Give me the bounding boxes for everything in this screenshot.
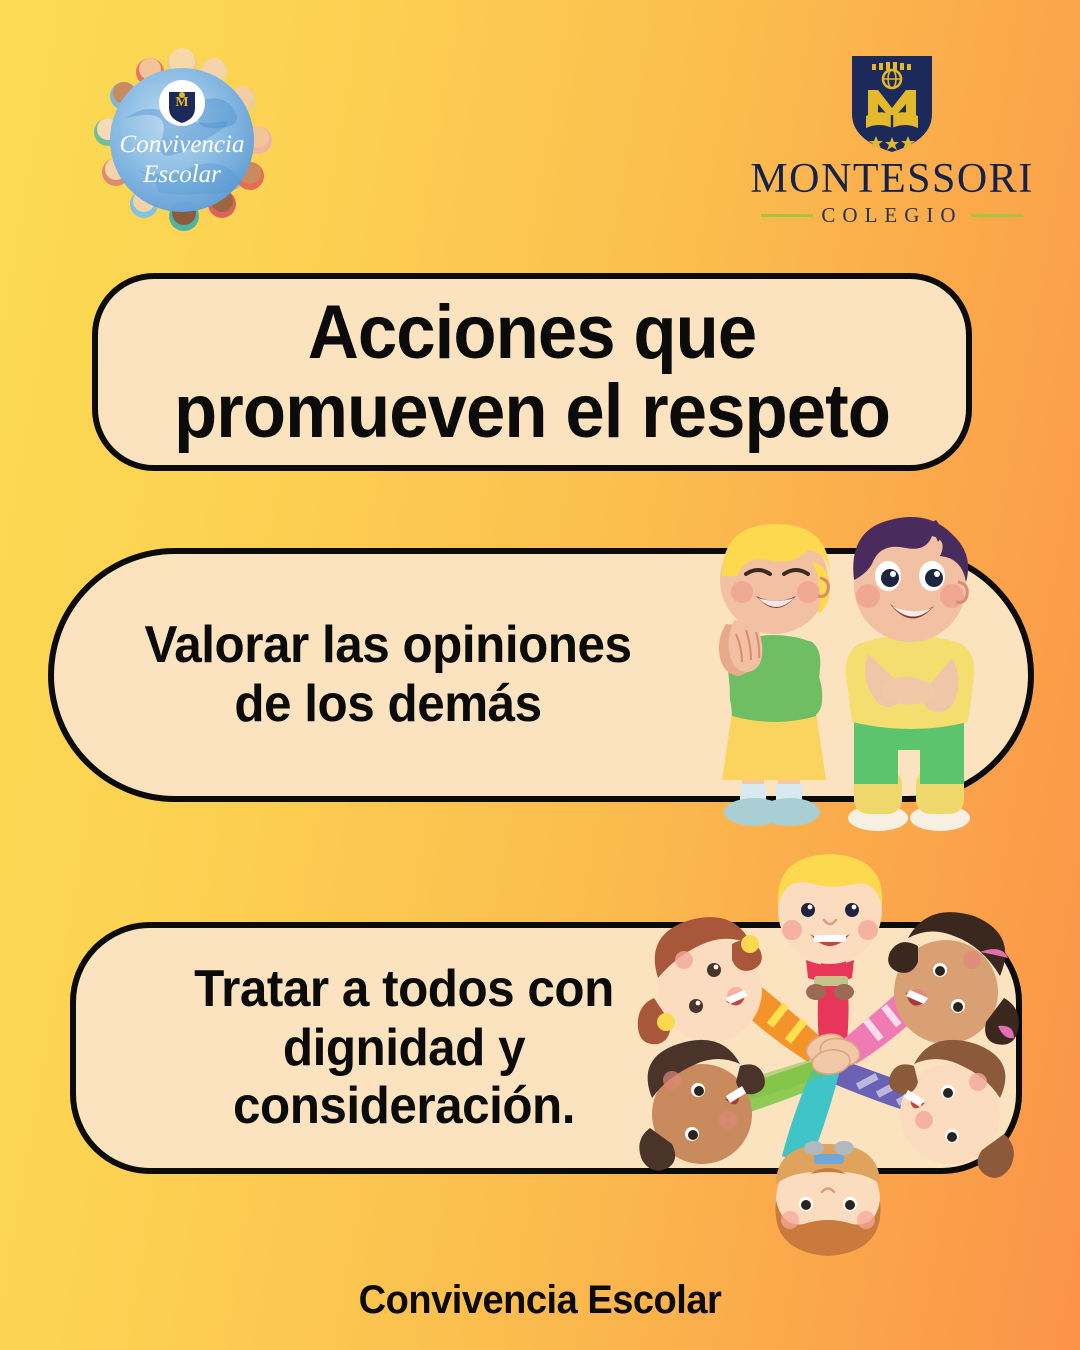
action-one-line2: de los demás (122, 675, 654, 734)
action-two-line2: dignidad y (167, 1019, 642, 1078)
action-card-two-text: Tratar a todos con dignidad y considerac… (167, 960, 642, 1136)
montessori-subtitle: COLEGIO (821, 203, 962, 228)
rule-left-decoration (761, 214, 813, 217)
rule-right-decoration (971, 214, 1023, 217)
action-card-one: Valorar las opiniones de los demás (48, 548, 1034, 802)
convivencia-escolar-logo: M Convivencia Escolar (86, 48, 278, 238)
page-title: Acciones que promueven el respeto (156, 293, 907, 451)
action-card-two: Tratar a todos con dignidad y considerac… (70, 922, 1022, 1174)
page-title-line1: Acciones que (156, 293, 907, 372)
montessori-wordmark: MONTESSORI (750, 158, 1033, 200)
poster-canvas: M Convivencia Escolar (0, 0, 1080, 1350)
convivencia-line2: Escolar (142, 161, 221, 188)
action-one-line1: Valorar las opiniones (122, 616, 654, 675)
montessori-subtitle-row: COLEGIO (742, 203, 1042, 228)
convivencia-line1: Convivencia (120, 131, 245, 158)
footer-label: Convivencia Escolar (27, 1278, 1053, 1323)
action-two-line3: consideración. (167, 1077, 642, 1136)
montessori-shield-crest-icon (844, 52, 940, 156)
title-card: Acciones que promueven el respeto (92, 273, 972, 471)
action-two-line1: Tratar a todos con (167, 960, 642, 1019)
watercolor-globe-with-children-icon: M Convivencia Escolar (86, 48, 278, 238)
montessori-colegio-logo: MONTESSORI COLEGIO (742, 52, 1042, 230)
action-card-one-text: Valorar las opiniones de los demás (122, 616, 654, 734)
page-title-line2: promueven el respeto (156, 372, 907, 451)
